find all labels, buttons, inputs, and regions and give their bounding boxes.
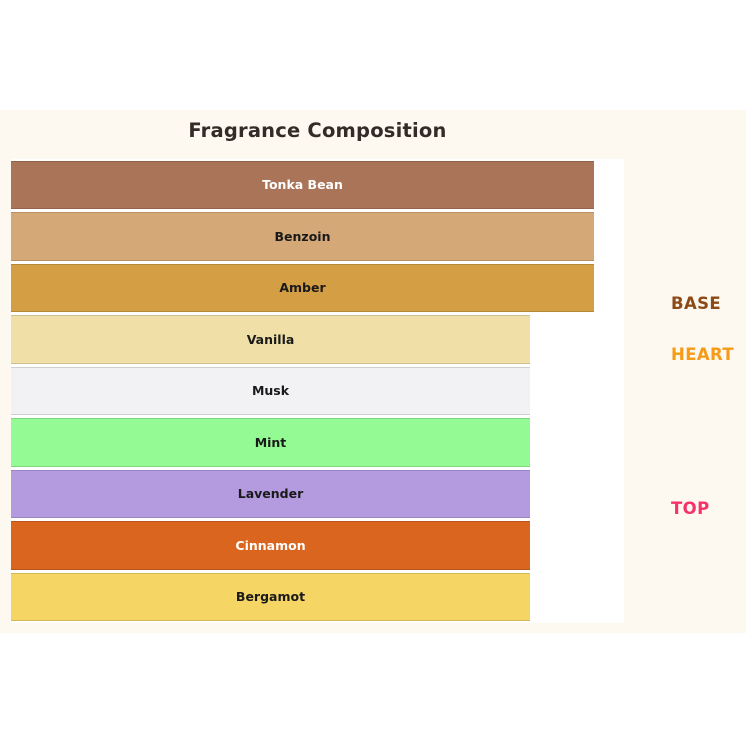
bar-fill-cinnamon <box>11 521 530 570</box>
stage-label-base: BASE <box>671 294 721 313</box>
bar-row[interactable]: Vanilla <box>11 314 530 366</box>
bar-row[interactable]: Amber <box>11 262 594 314</box>
bar-fill-lavender <box>11 470 530 519</box>
bar-fill-musk <box>11 367 530 416</box>
bar-row[interactable]: Bergamot <box>11 571 530 623</box>
bar-fill-vanilla <box>11 315 530 364</box>
stage-label-heart: HEART <box>671 345 734 364</box>
bar-row[interactable]: Musk <box>11 365 530 417</box>
bar-fill-tonka-bean <box>11 161 594 210</box>
figure-canvas: Fragrance Composition Tonka BeanBenzoinA… <box>0 110 746 633</box>
chart-title: Fragrance Composition <box>0 119 635 142</box>
bar-row[interactable]: Benzoin <box>11 211 594 263</box>
bar-fill-amber <box>11 264 594 313</box>
bar-row[interactable]: Lavender <box>11 468 530 520</box>
bar-fill-benzoin <box>11 212 594 261</box>
stage-label-top: TOP <box>671 499 710 518</box>
bar-row[interactable]: Tonka Bean <box>11 159 594 211</box>
bar-fill-mint <box>11 418 530 467</box>
bar-fill-bergamot <box>11 573 530 622</box>
bars-layer: Tonka BeanBenzoinAmberVanillaMuskMintLav… <box>11 159 624 623</box>
bar-row[interactable]: Mint <box>11 417 530 469</box>
bar-row[interactable]: Cinnamon <box>11 520 530 572</box>
